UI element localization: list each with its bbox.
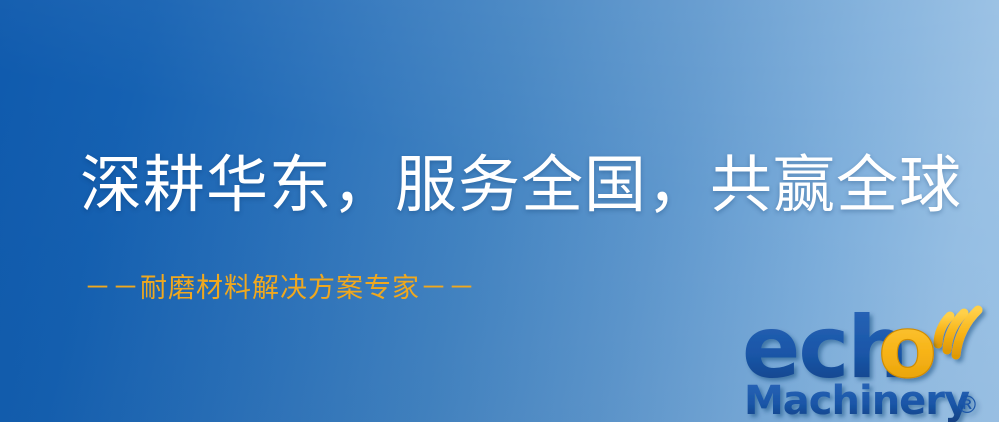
hero-banner: 深耕华东，服务全国，共赢全球 －－耐磨材料解决方案专家－－ bbox=[0, 0, 999, 422]
signal-waves-icon bbox=[938, 310, 978, 355]
echo-machinery-logo[interactable]: ech o Machinery ® bbox=[742, 292, 999, 422]
logo-registered-mark: ® bbox=[955, 391, 979, 419]
logo-tagline: Machinery bbox=[744, 378, 970, 422]
page-subtitle: －－耐磨材料解决方案专家－－ bbox=[84, 266, 476, 305]
page-title: 深耕华东，服务全国，共赢全球 bbox=[80, 152, 962, 217]
